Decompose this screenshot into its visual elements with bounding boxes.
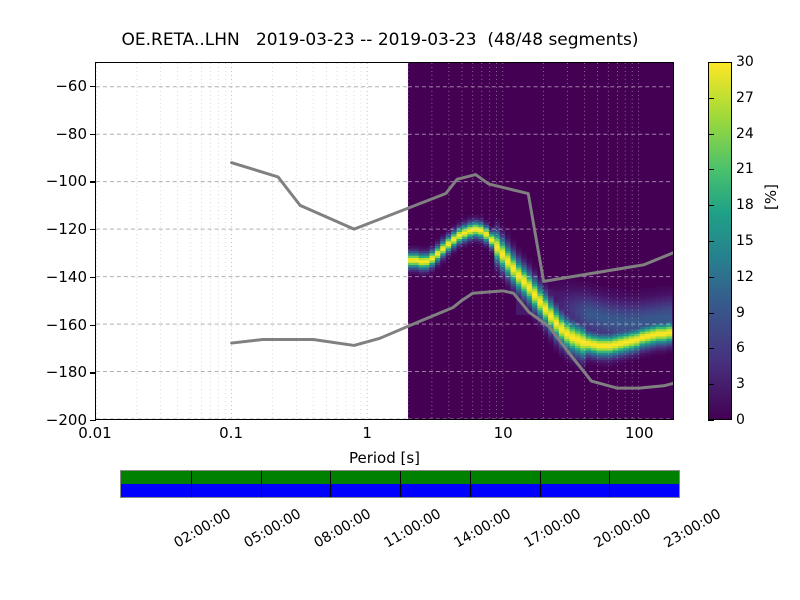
colorbar-tick-label: 12 [736, 269, 754, 285]
y-tick-label: −140 [35, 268, 87, 286]
colorbar-tick-mark [708, 277, 714, 278]
y-tick-label: −80 [35, 125, 87, 143]
y-tick-label: −60 [35, 77, 87, 95]
colorbar-tick-mark [708, 169, 714, 170]
y-tick-label: −100 [35, 172, 87, 190]
colorbar-tick-mark [708, 241, 714, 242]
colorbar-tick-mark [708, 134, 714, 135]
noise-model-curves [96, 63, 673, 419]
colorbar-label: [%] [762, 184, 780, 210]
colorbar-tick-label: 15 [736, 233, 754, 249]
colorbar-tick-label: 3 [736, 376, 745, 392]
colorbar-tick-mark [708, 384, 714, 385]
colorbar-tick-label: 6 [736, 340, 745, 356]
x-axis-label: Period [s] [95, 449, 674, 467]
x-tick-label: 1 [362, 424, 372, 442]
coverage-tick [191, 471, 192, 497]
colorbar-tick-label: 24 [736, 126, 754, 142]
time-tick-label: 11:00:00 [381, 506, 443, 551]
y-tick-label: −160 [35, 316, 87, 334]
x-tick-label: 100 [625, 424, 654, 442]
colorbar-tick-label: 9 [736, 305, 745, 321]
time-tick-label: 23:00:00 [661, 506, 723, 551]
ppsd-plot-axes [95, 62, 674, 420]
colorbar-tick-mark [708, 420, 714, 421]
colorbar-tick-mark [708, 313, 714, 314]
y-tick-mark [90, 420, 96, 421]
time-tick-label: 20:00:00 [591, 506, 653, 551]
time-tick-label: 02:00:00 [171, 506, 233, 551]
colorbar-tick-label: 18 [736, 197, 754, 213]
coverage-tick [609, 471, 610, 497]
colorbar-tick-mark [708, 98, 714, 99]
colorbar-tick-mark [708, 205, 714, 206]
x-tick-label: 0.1 [219, 424, 243, 442]
x-tick-label: 0.01 [78, 424, 111, 442]
colorbar-tick-label: 0 [736, 412, 745, 428]
page-title: OE.RETA..LHN 2019-03-23 -- 2019-03-23 (4… [0, 30, 760, 50]
coverage-tick [261, 471, 262, 497]
coverage-tick [330, 471, 331, 497]
colorbar-tick-label: 30 [736, 54, 754, 70]
y-tick-label: −180 [35, 363, 87, 381]
x-tick-label: 10 [494, 424, 513, 442]
y-tick-label: −120 [35, 220, 87, 238]
colorbar-tick-label: 27 [736, 90, 754, 106]
time-tick-label: 08:00:00 [311, 506, 373, 551]
coverage-tick [470, 471, 471, 497]
time-tick-label: 17:00:00 [521, 506, 583, 551]
time-coverage-bar[interactable] [120, 470, 680, 498]
time-tick-label: 14:00:00 [451, 506, 513, 551]
colorbar-tick-mark [708, 348, 714, 349]
coverage-tick [540, 471, 541, 497]
time-tick-label: 05:00:00 [241, 506, 303, 551]
coverage-tick [400, 471, 401, 497]
colorbar-tick-label: 21 [736, 161, 754, 177]
